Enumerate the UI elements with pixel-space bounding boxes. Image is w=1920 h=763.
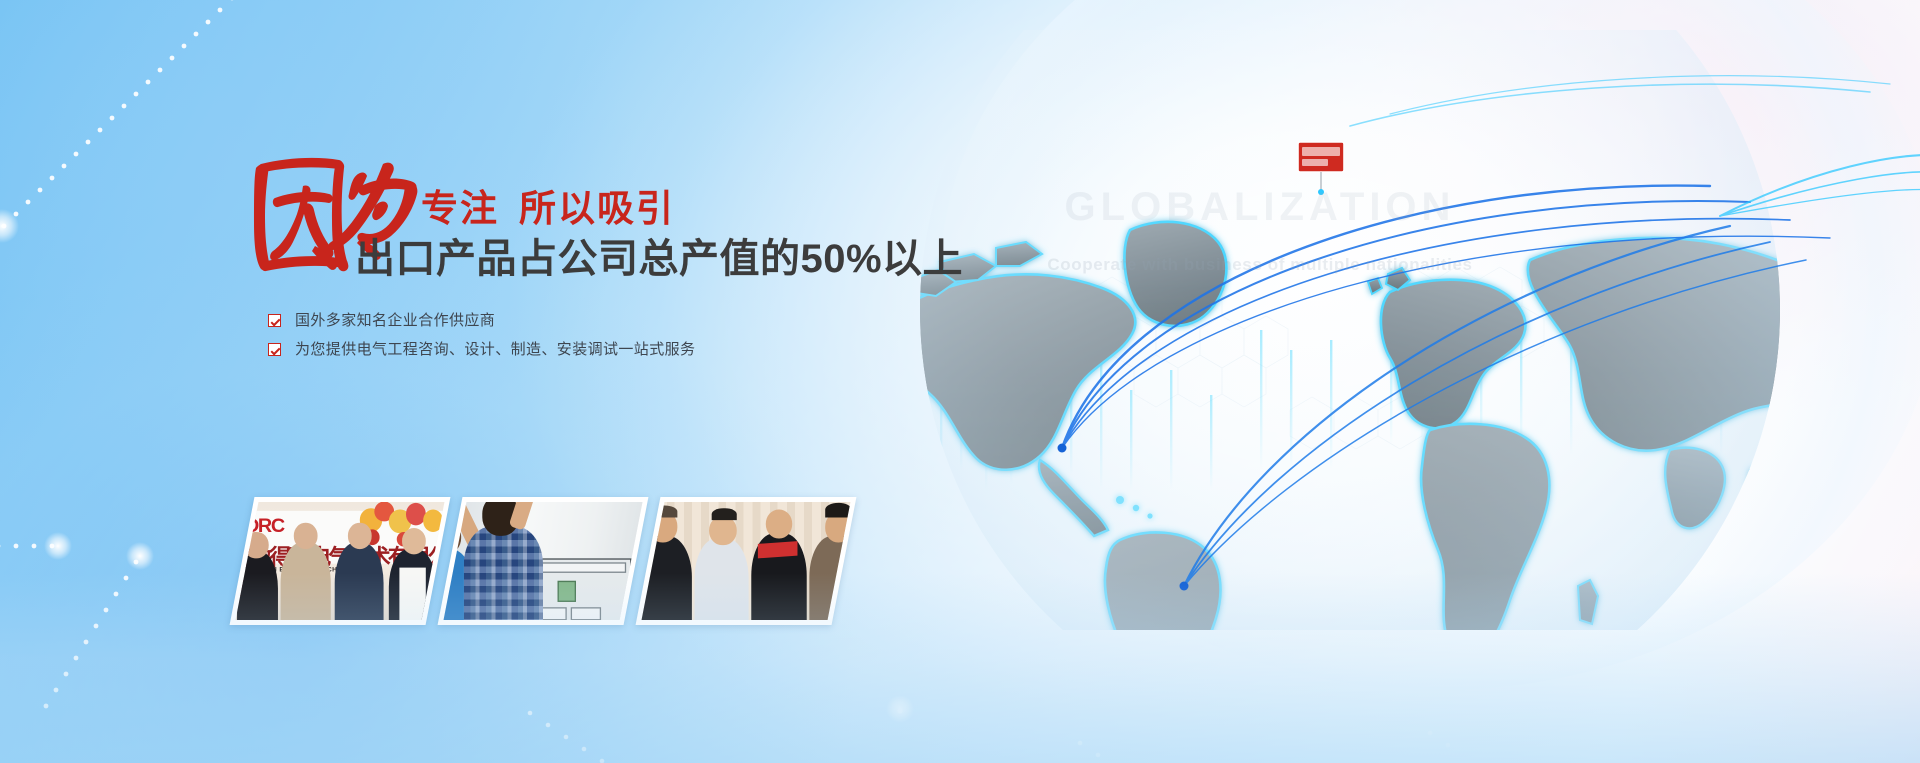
banner-hero: GLOBALIZATION Cooperate with business of…	[0, 0, 1920, 763]
bullet-label: 为您提供电气工程咨询、设计、制造、安装调试一站式服务	[295, 342, 695, 357]
world-map-globe	[790, 30, 1920, 630]
checkbox-checked-icon	[268, 343, 281, 356]
bullet-label: 国外多家知名企业合作供应商	[295, 313, 495, 328]
watermark-line-2: Cooperate with business of multiple nati…	[980, 255, 1540, 275]
checkbox-checked-icon	[268, 314, 281, 327]
globe-route-arcs	[1058, 76, 1920, 591]
feature-bullet-list: 国外多家知名企业合作供应商 为您提供电气工程咨询、设计、制造、安装调试一站式服务	[268, 313, 695, 371]
headline-row: 专注所以吸引 出口产品占公司总产值的50%以上	[243, 150, 943, 285]
photo-technicians-at-cabinet[interactable]	[438, 497, 649, 625]
photo-strip: HDRC 安徽得瑞电气技术有限公司 ANHUI RERUI ELECTRIC T…	[228, 497, 858, 632]
globe-watermark-text: GLOBALIZATION Cooperate with business of…	[980, 185, 1540, 275]
list-item: 国外多家知名企业合作供应商	[268, 313, 695, 328]
heading-red-part1: 专注	[421, 188, 499, 229]
photo-smiling-group[interactable]	[636, 497, 857, 625]
globe-graphic	[790, 30, 1920, 630]
photo-group-with-banner[interactable]: HDRC 安徽得瑞电气技术有限公司 ANHUI RERUI ELECTRIC T…	[230, 497, 451, 625]
hero-copy-block: 专注所以吸引 出口产品占公司总产值的50%以上 国外多家知名企业合作供应商 为您…	[243, 150, 943, 285]
location-flag-marker	[1298, 142, 1344, 195]
heading-main-line: 出口产品占公司总产值的50%以上	[355, 239, 963, 279]
list-item: 为您提供电气工程咨询、设计、制造、安装调试一站式服务	[268, 342, 695, 357]
heading-red-line: 专注所以吸引	[421, 190, 675, 227]
heading-red-part2: 所以吸引	[519, 188, 675, 229]
watermark-line-1: GLOBALIZATION	[980, 185, 1540, 229]
